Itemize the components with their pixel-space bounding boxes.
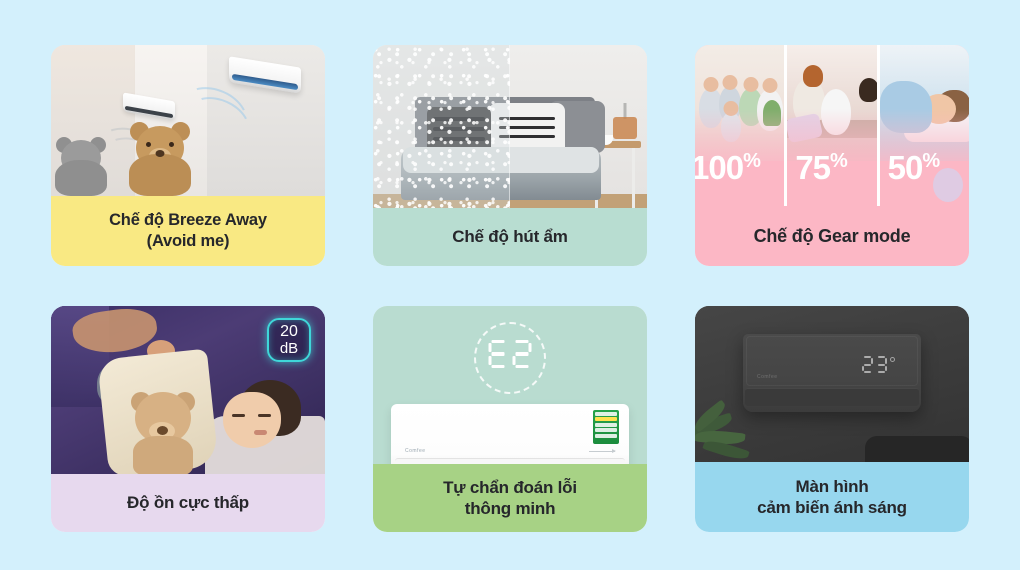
lamp-icon bbox=[613, 103, 637, 143]
energy-label-icon bbox=[593, 410, 619, 444]
card-label-line1: Chế độ Breeze Away bbox=[109, 211, 267, 229]
louver bbox=[395, 458, 625, 464]
card-label-low-noise: Độ ồn cực thấp bbox=[51, 474, 325, 532]
child-face bbox=[223, 392, 281, 448]
card-label-breeze-away: Chế độ Breeze Away (Avoid me) bbox=[51, 196, 325, 266]
airflow-arrow-icon bbox=[589, 451, 615, 453]
card-label-line2: thông minh bbox=[465, 499, 556, 518]
feature-card-grid: Chế độ Breeze Away (Avoid me) bbox=[0, 0, 1020, 570]
card-image-dehumidify bbox=[373, 45, 647, 208]
teddy-bear-icon bbox=[53, 134, 109, 196]
louver bbox=[745, 388, 919, 406]
gear-percent-label: 50% bbox=[888, 151, 940, 184]
gear-pane-100: 100% bbox=[695, 45, 787, 206]
closed-eye-icon bbox=[258, 414, 271, 417]
air-conditioner-icon: Comfee bbox=[743, 334, 921, 412]
temperature-display-icon bbox=[862, 356, 895, 373]
brand-text: Comfee bbox=[757, 374, 778, 380]
feature-card-low-noise[interactable]: 20 dB Độ ồn cực thấp bbox=[51, 306, 325, 532]
card-label-line1: Tự chẩn đoán lỗi bbox=[443, 478, 577, 497]
mouth bbox=[254, 430, 267, 435]
card-label-self-diagnosis: Tự chẩn đoán lỗi thông minh bbox=[373, 464, 647, 532]
card-image-light-sensor: Comfee bbox=[695, 306, 969, 462]
card-image-gear-mode: 100% 75% bbox=[695, 45, 969, 206]
card-label-light-sensor: Màn hình cảm biến ánh sáng bbox=[695, 462, 969, 532]
feature-card-breeze-away[interactable]: Chế độ Breeze Away (Avoid me) bbox=[51, 45, 325, 266]
card-label-line1: Màn hình bbox=[796, 477, 869, 496]
feature-card-light-sensor-display[interactable]: Comfee Màn hình cảm biến ánh sáng bbox=[695, 306, 969, 532]
feature-card-dehumidify[interactable]: Chế độ hút ẩm bbox=[373, 45, 647, 266]
feature-card-self-diagnosis[interactable]: Comfee Tự chẩn đoán lỗi thông minh bbox=[373, 306, 647, 532]
degree-symbol-icon bbox=[890, 357, 895, 362]
plant-icon bbox=[695, 398, 763, 456]
decibel-value: 20 bbox=[280, 324, 298, 340]
brand-text: Comfee bbox=[405, 448, 426, 454]
error-code-display-icon bbox=[489, 340, 532, 368]
humidity-droplets-icon bbox=[373, 45, 510, 208]
card-label-line1: Độ ồn cực thấp bbox=[127, 492, 249, 513]
card-image-self-diagnosis: Comfee bbox=[373, 306, 647, 464]
teddy-bear-icon bbox=[127, 120, 193, 196]
decibel-unit: dB bbox=[280, 341, 298, 356]
feature-card-gear-mode[interactable]: 100% 75% bbox=[695, 45, 969, 266]
card-label-line2: (Avoid me) bbox=[147, 232, 230, 250]
teddy-bear-icon bbox=[129, 392, 197, 472]
card-image-breeze-away bbox=[51, 45, 325, 196]
sofa-icon bbox=[865, 436, 969, 462]
card-label-line1: Chế độ Gear mode bbox=[754, 225, 911, 248]
card-label-dehumidify: Chế độ hút ẩm bbox=[373, 208, 647, 266]
gear-percent-label: 75% bbox=[795, 151, 847, 184]
card-image-low-noise: 20 dB bbox=[51, 306, 325, 474]
card-label-line1: Chế độ hút ẩm bbox=[452, 226, 567, 247]
card-label-gear-mode: Chế độ Gear mode bbox=[695, 206, 969, 266]
gear-pane-75: 75% bbox=[787, 45, 879, 206]
card-label-line2: cảm biến ánh sáng bbox=[757, 498, 907, 517]
gear-pane-50: 50% bbox=[880, 45, 969, 206]
air-conditioner-icon: Comfee bbox=[391, 404, 629, 464]
gear-percent-label: 100% bbox=[695, 151, 760, 184]
decibel-badge-icon: 20 dB bbox=[267, 318, 311, 362]
closed-eye-icon bbox=[232, 414, 245, 417]
